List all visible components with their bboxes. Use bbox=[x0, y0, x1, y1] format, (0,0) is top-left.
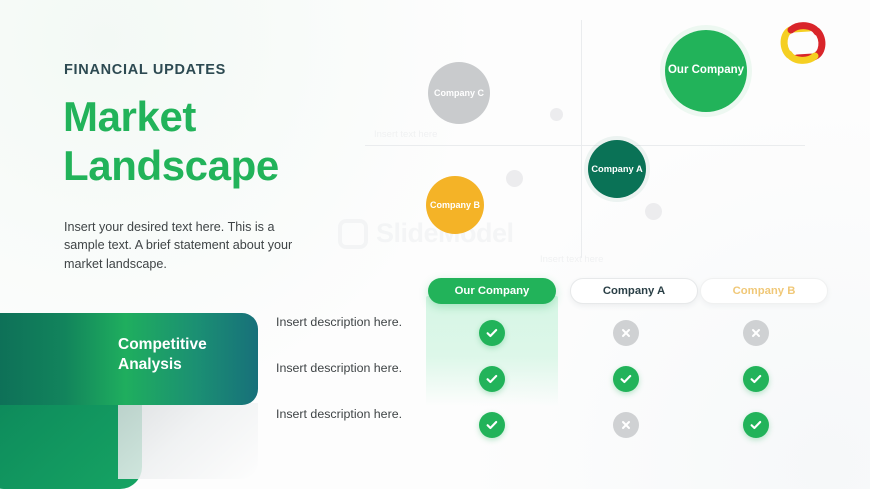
chart-x-axis-label: Insert text here bbox=[540, 254, 603, 265]
decorative-dot bbox=[645, 203, 662, 220]
slide-canvas: SlideModel FINANCIAL UPDATES Market Land… bbox=[0, 0, 870, 489]
x-circle-icon[interactable] bbox=[613, 412, 639, 438]
table-row: Insert description here. bbox=[268, 402, 868, 448]
badge-fold-shadow bbox=[118, 403, 258, 479]
intro-paragraph: Insert your desired text here. This is a… bbox=[64, 218, 314, 273]
eyebrow-label: FINANCIAL UPDATES bbox=[64, 62, 226, 78]
bubble-company-c[interactable]: Company C bbox=[428, 62, 490, 124]
page-title: Market Landscape bbox=[63, 92, 363, 190]
chart-y-axis-label: Insert text here bbox=[374, 129, 437, 140]
bubble-our-company[interactable]: Our Company bbox=[665, 30, 747, 112]
check-circle-icon[interactable] bbox=[613, 366, 639, 392]
x-circle-icon[interactable] bbox=[743, 320, 769, 346]
table-header-row: Our Company Company A Company B bbox=[268, 278, 868, 304]
comparison-table: Our Company Company A Company B Insert d… bbox=[268, 278, 868, 489]
column-header-our-company[interactable]: Our Company bbox=[428, 278, 556, 304]
x-circle-icon[interactable] bbox=[613, 320, 639, 346]
chart-horizontal-axis bbox=[365, 145, 805, 146]
row-description: Insert description here. bbox=[276, 406, 406, 423]
brand-logo-icon bbox=[779, 19, 827, 67]
check-circle-icon[interactable] bbox=[479, 366, 505, 392]
row-description: Insert description here. bbox=[276, 360, 406, 377]
badge-label: Competitive Analysis bbox=[118, 335, 238, 375]
column-header-company-a[interactable]: Company A bbox=[570, 278, 698, 304]
bubble-company-b[interactable]: Company B bbox=[426, 176, 484, 234]
column-header-company-b[interactable]: Company B bbox=[700, 278, 828, 304]
bubble-company-a[interactable]: Company A bbox=[588, 140, 646, 198]
decorative-dot bbox=[550, 108, 563, 121]
check-circle-icon[interactable] bbox=[479, 320, 505, 346]
table-row: Insert description here. bbox=[268, 356, 868, 402]
table-row: Insert description here. bbox=[268, 310, 868, 356]
competitive-analysis-badge: Competitive Analysis bbox=[0, 305, 262, 489]
check-circle-icon[interactable] bbox=[479, 412, 505, 438]
row-description: Insert description here. bbox=[276, 314, 406, 331]
decorative-dot bbox=[506, 170, 523, 187]
market-landscape-quadrant-chart: Insert text here Insert text here Compan… bbox=[360, 12, 810, 264]
check-circle-icon[interactable] bbox=[743, 412, 769, 438]
check-circle-icon[interactable] bbox=[743, 366, 769, 392]
chart-vertical-axis bbox=[581, 20, 582, 258]
